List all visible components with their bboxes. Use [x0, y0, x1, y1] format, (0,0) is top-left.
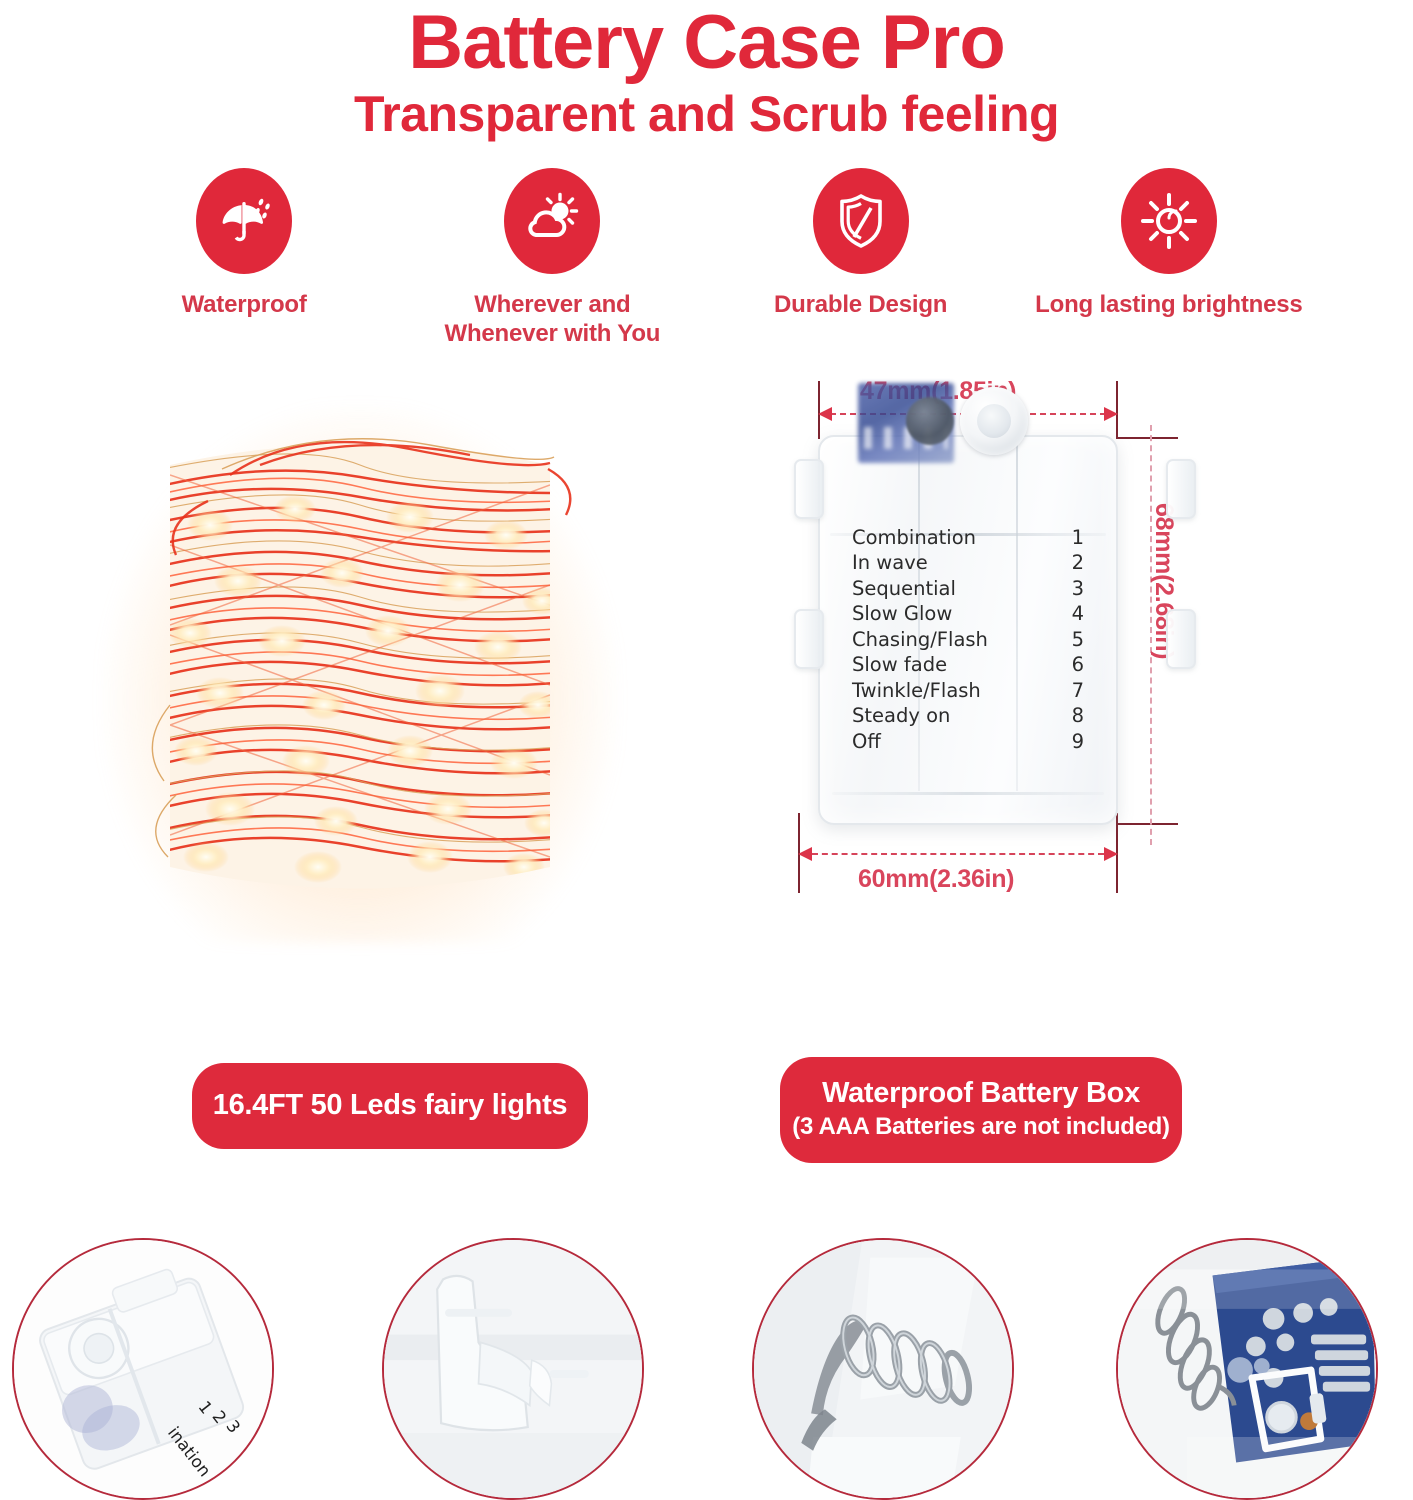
sun-cloud-icon — [520, 189, 584, 253]
product-showcase: 47mm(1.85in) 68mm(2.68in) 60mm(2.36in) — [0, 373, 1413, 1063]
page-subtitle: Transparent and Scrub feeling — [0, 88, 1413, 141]
mode-name: Slow Glow — [852, 601, 952, 627]
mode-row: Combination 1 — [852, 525, 1084, 551]
page-title: Battery Case Pro — [0, 4, 1413, 82]
side-clip-right-top — [1166, 459, 1196, 519]
mode-row: Slow fade 6 — [852, 652, 1084, 678]
feature-label: Waterproof — [182, 290, 307, 319]
mode-button-inner[interactable] — [977, 404, 1011, 438]
mode-number: 2 — [1058, 550, 1084, 576]
mode-row: Chasing/Flash 5 — [852, 627, 1084, 653]
mode-name: Slow fade — [852, 652, 947, 678]
mode-name: Steady on — [852, 703, 950, 729]
mode-number: 7 — [1058, 678, 1084, 704]
caption-row: 16.4FT 50 Leds fairy lights Waterproof B… — [0, 1063, 1413, 1173]
dim-arrow-right2 — [1104, 847, 1118, 861]
sun-cloud-icon-badge — [504, 168, 600, 274]
feature-list: Waterproof Wherever and Whenever with Yo… — [0, 168, 1413, 349]
caption-text: Waterproof Battery Box — [822, 1077, 1140, 1110]
dim-ext-top-right — [1116, 437, 1178, 439]
dim-arrow-left2 — [798, 847, 812, 861]
caption-battery-box: Waterproof Battery Box (3 AAA Batteries … — [780, 1057, 1182, 1163]
umbrella-rain-icon — [212, 189, 276, 253]
feature-brightness: Long lasting brightness — [1015, 168, 1323, 319]
feature-waterproof: Waterproof — [90, 168, 398, 319]
thumbnail-spring-contact — [752, 1238, 1014, 1500]
mode-row: Sequential 3 — [852, 576, 1084, 602]
sun-icon-badge — [1121, 168, 1217, 274]
mode-number: 6 — [1058, 652, 1084, 678]
mode-row: Twinkle/Flash 7 — [852, 678, 1084, 704]
coil-illustration — [110, 405, 610, 925]
mode-row: Slow Glow 4 — [852, 601, 1084, 627]
dim-arrow-left — [818, 407, 832, 421]
battery-box-diagram: 47mm(1.85in) 68mm(2.68in) 60mm(2.36in) — [760, 373, 1230, 963]
mode-number: 8 — [1058, 703, 1084, 729]
thumbnail-plastic-clip — [382, 1238, 644, 1500]
dim-line-depth — [812, 853, 1104, 855]
circuit-board-detail — [1118, 1240, 1376, 1498]
spring-contact-detail — [754, 1240, 1012, 1498]
mode-name: Twinkle/Flash — [852, 678, 981, 704]
dim-ext-bottom-right — [1116, 823, 1178, 825]
lens-component — [906, 397, 954, 445]
mode-number: 4 — [1058, 601, 1084, 627]
mode-name: Chasing/Flash — [852, 627, 988, 653]
box-bottom-seam — [832, 792, 1104, 795]
battery-box-button-detail: ination 1 2 3 — [14, 1240, 272, 1498]
caption-subtext: (3 AAA Batteries are not included) — [792, 1113, 1169, 1142]
mode-name: In wave — [852, 550, 928, 576]
feature-label: Long lasting brightness — [1035, 290, 1302, 319]
mode-row: In wave 2 — [852, 550, 1084, 576]
mode-row: Off 9 — [852, 729, 1084, 755]
caption-text: 16.4FT 50 Leds fairy lights — [213, 1089, 568, 1122]
feature-label: Durable Design — [774, 290, 947, 319]
side-clip-left-top — [794, 459, 824, 519]
header: Battery Case Pro Transparent and Scrub f… — [0, 0, 1413, 140]
mode-row: Steady on 8 — [852, 703, 1084, 729]
caption-fairy-lights: 16.4FT 50 Leds fairy lights — [192, 1063, 588, 1149]
feature-durable: Durable Design — [707, 168, 1015, 319]
thumbnail-circuit-board — [1116, 1238, 1378, 1500]
shield-icon — [829, 189, 893, 253]
dim-arrow-right — [1104, 407, 1118, 421]
plastic-clip-latch-detail — [384, 1240, 642, 1498]
mode-name: Sequential — [852, 576, 956, 602]
dim-label-depth: 60mm(2.36in) — [858, 865, 1014, 894]
mode-list: Combination 1 In wave 2 Sequential 3 Slo… — [852, 525, 1084, 755]
detail-thumbnails: ination 1 2 3 — [0, 1238, 1413, 1500]
feature-portability: Wherever and Whenever with You — [398, 168, 706, 349]
feature-label: Wherever and Whenever with You — [445, 290, 661, 349]
umbrella-rain-icon-badge — [196, 168, 292, 274]
mode-name: Combination — [852, 525, 976, 551]
mode-number: 3 — [1058, 576, 1084, 602]
mode-number: 1 — [1058, 525, 1084, 551]
mode-number: 9 — [1058, 729, 1084, 755]
shield-icon-badge — [813, 168, 909, 274]
sun-icon — [1137, 189, 1201, 253]
thumbnail-battery-box-button: ination 1 2 3 — [12, 1238, 274, 1500]
fairy-light-coil — [70, 383, 650, 963]
side-clip-right-bottom — [1166, 609, 1196, 669]
mode-number: 5 — [1058, 627, 1084, 653]
side-clip-left-bottom — [794, 609, 824, 669]
mode-name: Off — [852, 729, 881, 755]
